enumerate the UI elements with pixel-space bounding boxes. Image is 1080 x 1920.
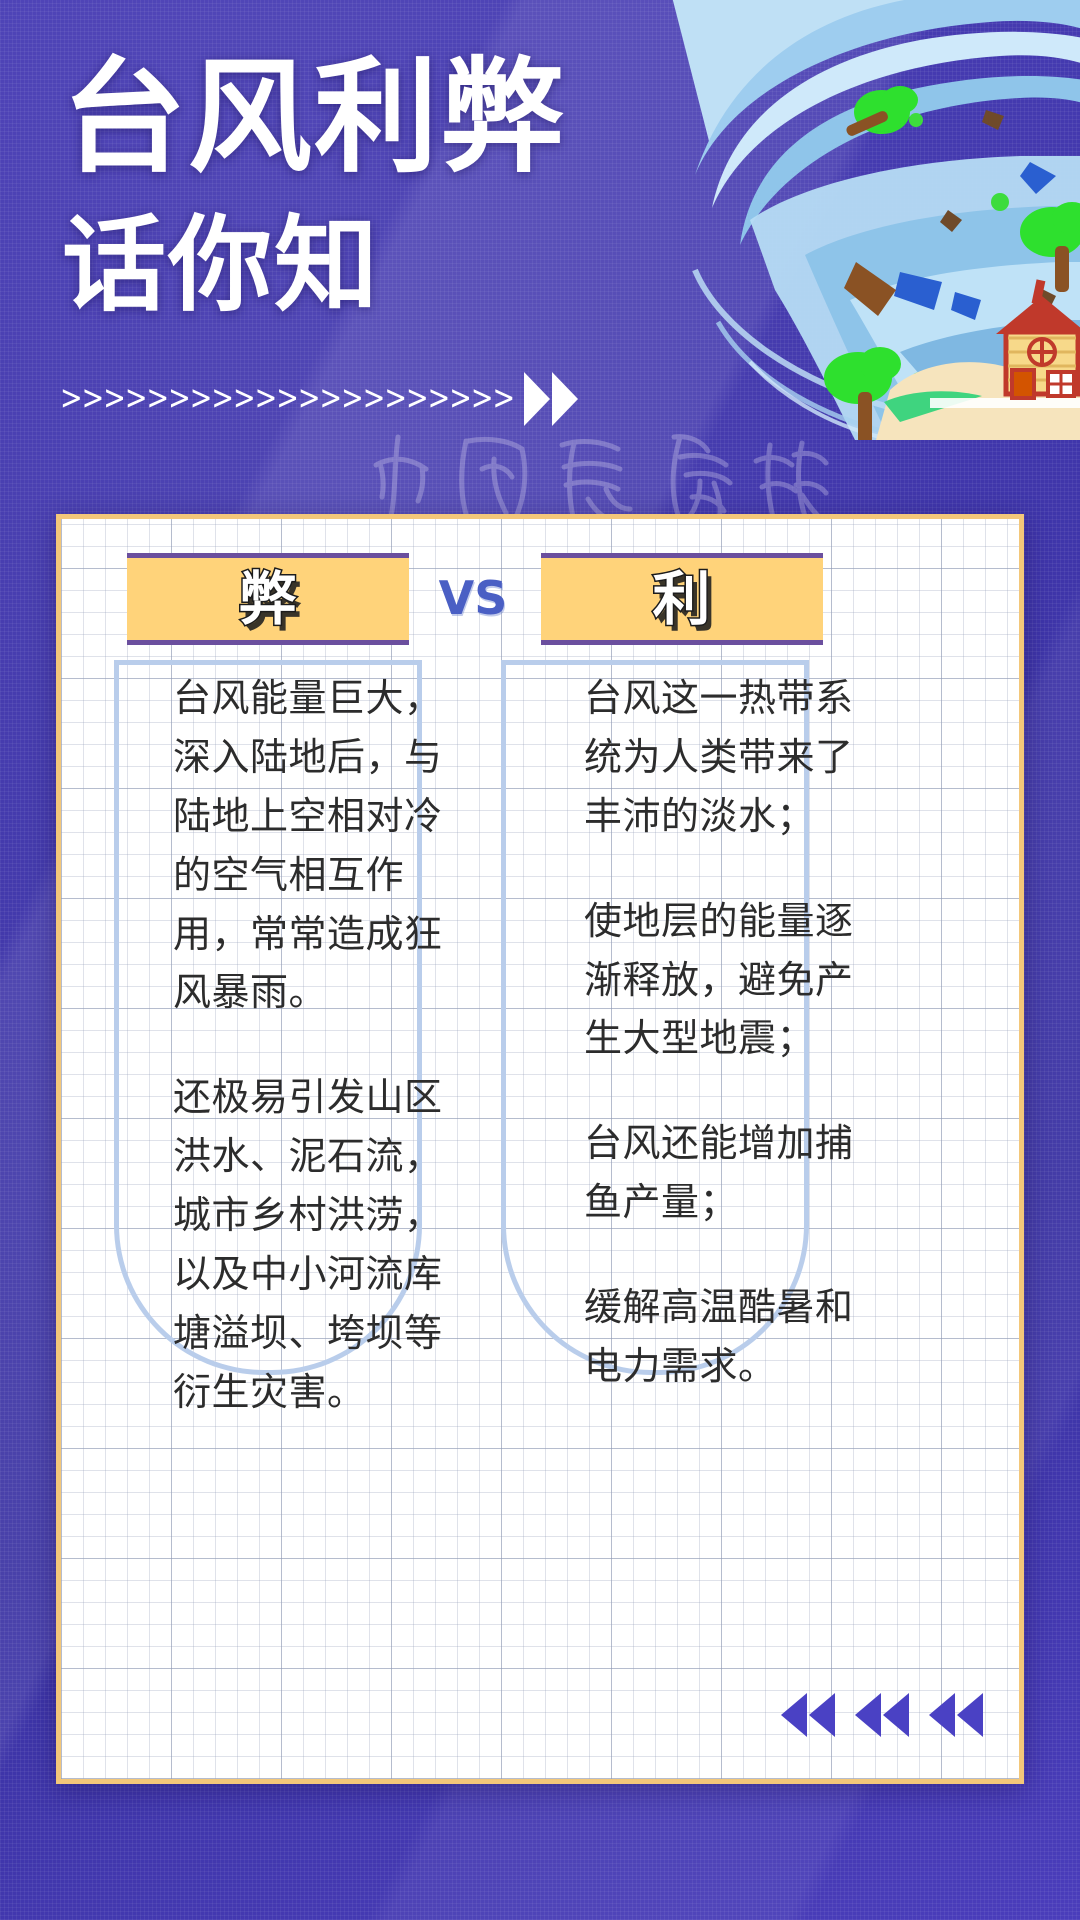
nav-arrows[interactable] — [781, 1693, 983, 1737]
page-title-line-1: 台风利弊 — [62, 55, 566, 181]
pane-cons-top-edge — [114, 660, 422, 665]
cons-paragraph-2: 还极易引发山区洪水、泥石流，城市乡村洪涝，以及中小河流库塘溢坝、垮坝等衍生灾害。 — [173, 1068, 473, 1421]
badge-pros: 利 — [541, 553, 823, 645]
double-chevron-left-icon[interactable] — [929, 1693, 983, 1737]
tornado-illustration — [600, 0, 1080, 440]
double-chevron-left-icon[interactable] — [781, 1693, 835, 1737]
chevron-divider: >>>>>>>>>>>>>>>>>>>>>>>>>>>>>>>>>> — [60, 381, 515, 415]
comparison-card: 弊 VS 利 台风能量巨大，深入陆地后，与陆地上空相对冷的空气相互作用，常常造成… — [56, 514, 1024, 1784]
cons-text-block: 台风能量巨大，深入陆地后，与陆地上空相对冷的空气相互作用，常常造成狂风暴雨。 还… — [173, 669, 473, 1422]
chevron-left-icon — [929, 1693, 955, 1737]
pros-paragraph-3: 台风还能增加捕鱼产量； — [584, 1114, 884, 1232]
double-chevron-left-icon[interactable] — [855, 1693, 909, 1737]
poster-canvas: 台风利弊 话你知 >>>>>>>>>>>>>>>>>>>>>>>>>>>>>>>… — [0, 0, 1080, 1920]
footer-strip — [0, 1784, 1080, 1920]
chevron-left-icon — [809, 1693, 835, 1737]
poster-header: 台风利弊 话你知 >>>>>>>>>>>>>>>>>>>>>>>>>>>>>>>… — [0, 0, 1080, 520]
badge-pros-label: 利 — [652, 570, 711, 628]
chevron-divider-glyphs: >>>>>>>>>>>>>>>>>>>>>>>>>>>>>>>>>> — [60, 381, 515, 415]
pros-paragraph-1: 台风这一热带系统为人类带来了丰沛的淡水； — [584, 669, 884, 846]
pane-pros-top-edge — [501, 660, 809, 665]
chevron-left-icon — [883, 1693, 909, 1737]
badge-cons-label: 弊 — [238, 570, 297, 628]
comparison-header-row: 弊 VS 利 — [61, 553, 1029, 649]
chevron-left-icon — [957, 1693, 983, 1737]
cons-paragraph-1: 台风能量巨大，深入陆地后，与陆地上空相对冷的空气相互作用，常常造成狂风暴雨。 — [173, 669, 473, 1022]
pros-paragraph-4: 缓解高温酷暑和电力需求。 — [584, 1278, 884, 1396]
chevron-left-icon — [855, 1693, 881, 1737]
double-chevron-right-icon — [520, 368, 582, 430]
pros-paragraph-2: 使地层的能量逐渐释放，避免产生大型地震； — [584, 892, 884, 1069]
page-title-line-2: 话你知 — [62, 212, 380, 318]
chevron-left-icon — [781, 1693, 807, 1737]
vs-label: VS — [413, 571, 533, 625]
pros-text-block: 台风这一热带系统为人类带来了丰沛的淡水； 使地层的能量逐渐释放，避免产生大型地震… — [584, 669, 884, 1396]
badge-cons: 弊 — [127, 553, 409, 645]
